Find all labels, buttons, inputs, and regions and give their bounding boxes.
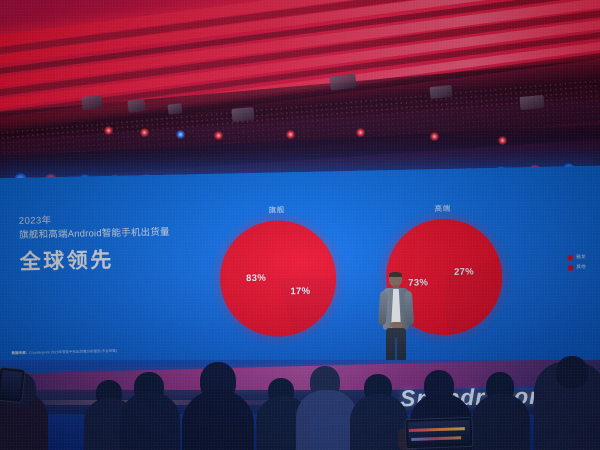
phone-screen bbox=[0, 370, 22, 400]
ceiling-speaker bbox=[429, 85, 452, 99]
audience-silhouette-light bbox=[296, 390, 358, 450]
ceiling-speaker bbox=[127, 99, 145, 113]
audience-silhouette bbox=[182, 390, 254, 450]
audience-phone-front[interactable] bbox=[0, 367, 26, 404]
ceiling-speaker bbox=[519, 95, 544, 110]
screen-vignette bbox=[0, 166, 600, 379]
main-led-screen: 2023年 旗舰和高端Android智能手机出货量 全球领先 数据来源：Coun… bbox=[0, 166, 600, 379]
keynote-stage-photo: 2023年 旗舰和高端Android智能手机出货量 全球领先 数据来源：Coun… bbox=[0, 0, 600, 450]
truss-lamp-blue bbox=[176, 130, 185, 139]
audience-phone-recording[interactable] bbox=[404, 417, 473, 449]
truss-lamp-red bbox=[286, 130, 295, 139]
audience-silhouette bbox=[120, 392, 180, 450]
truss-lamp-red bbox=[140, 128, 149, 137]
phone-screen bbox=[408, 420, 471, 446]
ceiling-speaker bbox=[81, 95, 102, 110]
presenter-hair bbox=[389, 272, 402, 277]
truss-lamp-red bbox=[430, 132, 439, 141]
ceiling-speaker bbox=[231, 107, 254, 122]
audience-silhouette bbox=[472, 394, 530, 450]
presenter-arm-right bbox=[404, 291, 414, 325]
venue-ceiling bbox=[0, 0, 600, 185]
truss-lamp-red bbox=[214, 131, 223, 140]
truss-lamp-red bbox=[498, 136, 507, 145]
truss-lamp-red bbox=[356, 128, 365, 137]
truss-lamp-red bbox=[104, 126, 113, 135]
audience-head bbox=[556, 356, 588, 388]
ceiling-speaker bbox=[168, 103, 183, 114]
